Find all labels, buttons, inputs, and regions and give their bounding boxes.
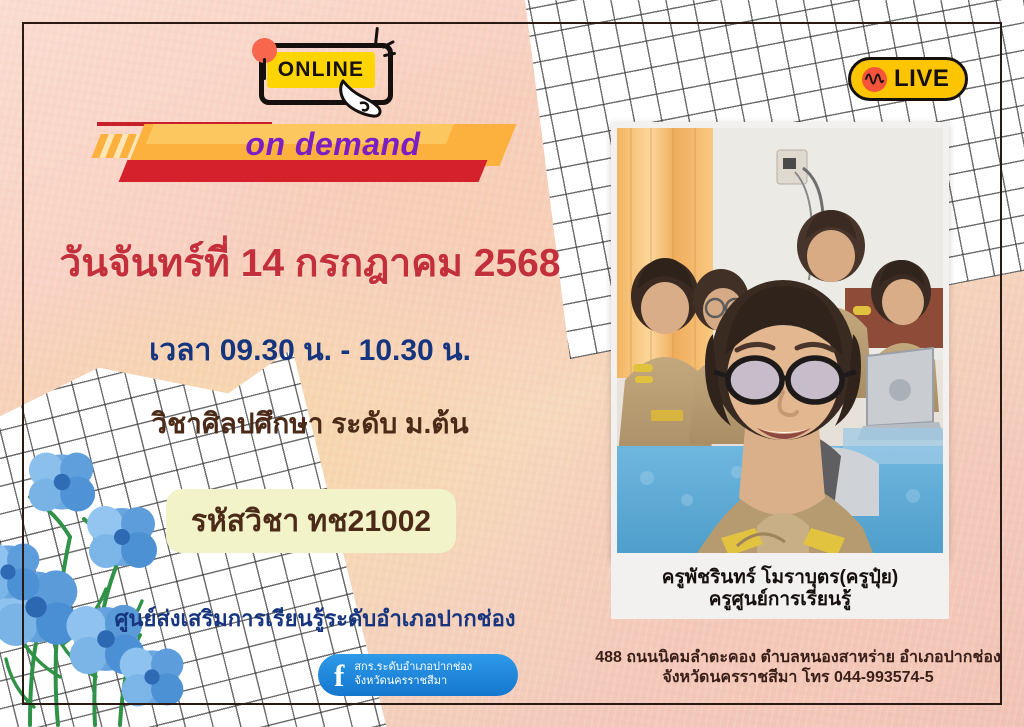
teacher-name: ครูพัชรินทร์ โมราบุตร(ครูปุ๋ย): [662, 567, 899, 589]
facebook-badge[interactable]: f สกร.ระดับอำเภอปากช่อง จังหวัดนครราชสีม…: [318, 654, 518, 696]
time-line: เวลา 09.30 น. - 10.30 น.: [30, 327, 590, 374]
subject-line: วิชาศิลปศึกษา ระดับ ม.ต้น: [30, 402, 590, 446]
subject-code-badge: รหัสวิชา ทช21002: [166, 489, 456, 553]
on-demand-banner: on demand: [88, 112, 508, 188]
online-spark-tick: [374, 27, 378, 44]
online-badge: ONLINE: [247, 33, 392, 111]
live-badge: LIVE: [848, 57, 968, 101]
date-line: วันจันทร์ที่ 14 กรกฎาคม 2568: [30, 232, 590, 294]
live-label: LIVE: [894, 67, 949, 91]
live-waveform-icon: [862, 67, 887, 92]
facebook-icon: f: [334, 660, 344, 691]
on-demand-label: on demand: [88, 120, 508, 168]
teacher-photo-card: [611, 122, 949, 559]
teacher-caption: ครูพัชรินทร์ โมราบุตร(ครูปุ๋ย) ครูศูนย์ก…: [611, 559, 949, 619]
facebook-line-2: จังหวัดนครราชสีมา: [354, 675, 472, 689]
address-block: 488 ถนนนิคมลำตะคอง ตำบลหนองสาหร่าย อำเภอ…: [588, 648, 1008, 689]
address-line-1: 488 ถนนนิคมลำตะคอง ตำบลหนองสาหร่าย อำเภอ…: [588, 648, 1008, 668]
poster-canvas: ONLINE on demand LIVE วันจันทร์ที่ 14 กร…: [0, 0, 1024, 727]
address-line-2: จังหวัดนครราชสีมา โทร 044-993574-5: [588, 668, 1008, 688]
online-dot-stem: [263, 58, 266, 80]
teacher-role: ครูศูนย์การเรียนรู้: [709, 589, 852, 611]
facebook-line-1: สกร.ระดับอำเภอปากช่อง: [354, 661, 472, 675]
subject-code-label: รหัสวิชา ทช21002: [191, 498, 431, 545]
teacher-photo: [617, 128, 943, 553]
center-name: ศูนย์ส่งเสริมการเรียนรู้ระดับอำเภอปากช่อ…: [30, 601, 600, 636]
facebook-page-name: สกร.ระดับอำเภอปากช่อง จังหวัดนครราชสีมา: [354, 661, 472, 689]
